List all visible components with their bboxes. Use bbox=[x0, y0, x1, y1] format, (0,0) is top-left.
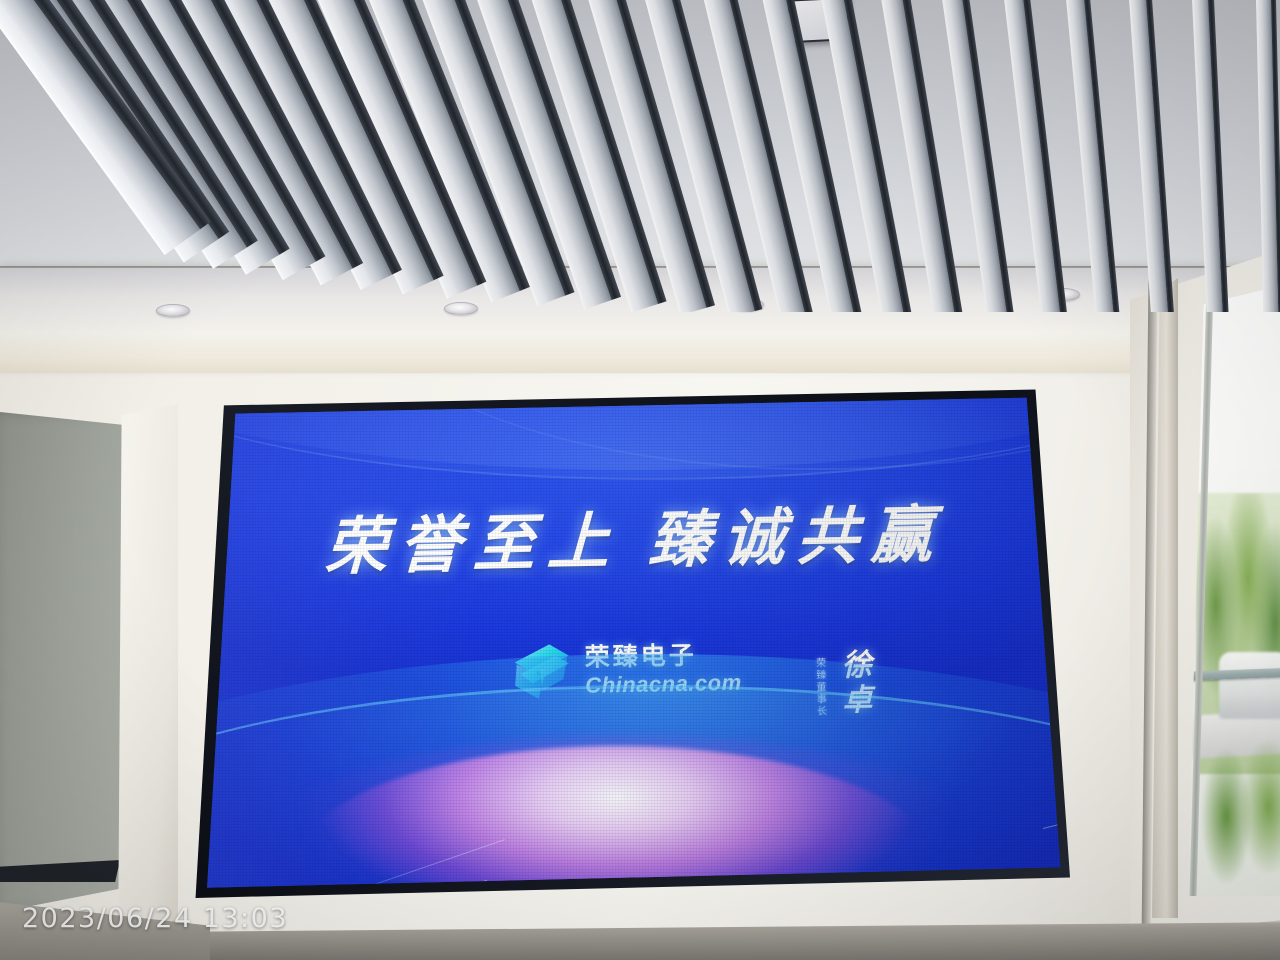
led-display-screen[interactable]: 荣誉至上 臻诚共赢 bbox=[192, 388, 1078, 900]
downlight-icon bbox=[156, 304, 190, 317]
window-car bbox=[1219, 652, 1280, 719]
slogan-headline: 荣誉至上 臻诚共赢 bbox=[192, 481, 1078, 590]
photo-canvas: 荣誉至上 臻诚共赢 bbox=[0, 0, 1280, 960]
baffle-gap bbox=[1268, 0, 1280, 312]
doorway-jamb bbox=[118, 404, 178, 960]
downlight-icon bbox=[444, 302, 478, 315]
baffle-gap bbox=[1202, 0, 1229, 312]
window-trees-lower bbox=[1200, 737, 1280, 896]
camera-timestamp: 2023/06/24 13:03 bbox=[22, 903, 288, 934]
